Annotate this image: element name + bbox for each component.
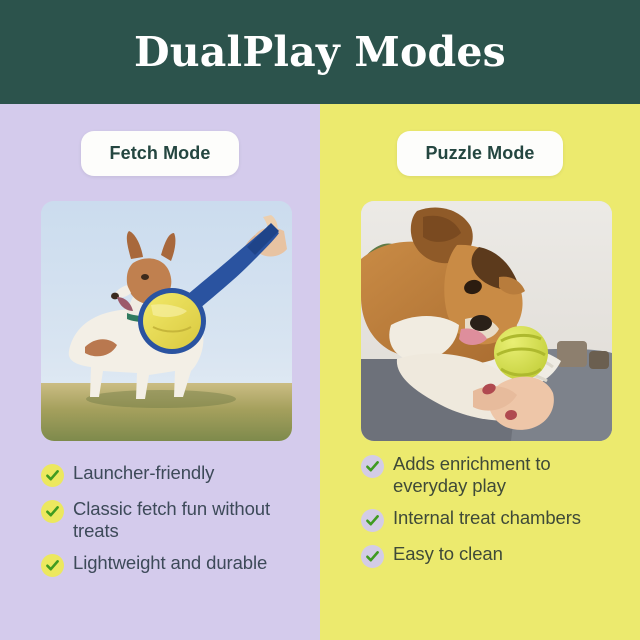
list-item-label: Launcher-friendly (73, 462, 214, 484)
fetch-mode-feature-list: Launcher-friendly Classic fetch fun with… (41, 462, 303, 577)
check-icon (361, 509, 384, 532)
mode-columns: Fetch Mode (0, 104, 640, 640)
check-icon (41, 464, 64, 487)
list-item-label: Easy to clean (393, 543, 503, 565)
check-icon (361, 455, 384, 478)
page-title: DualPlay Modes (124, 32, 516, 73)
check-icon (41, 554, 64, 577)
header-band: DualPlay Modes (0, 0, 640, 104)
fetch-mode-pill-wrap: Fetch Mode (0, 131, 320, 176)
puzzle-mode-photo (361, 201, 612, 441)
dualplay-modes-infographic: DualPlay Modes Fetch Mode (0, 0, 640, 640)
list-item-label: Internal treat chambers (393, 507, 581, 529)
fetch-mode-column: Fetch Mode (0, 104, 320, 640)
list-item: Internal treat chambers (361, 507, 623, 532)
puzzle-mode-feature-list: Adds enrichment to everyday play Interna… (361, 453, 623, 568)
list-item: Lightweight and durable (41, 552, 303, 577)
fetch-mode-pill[interactable]: Fetch Mode (81, 131, 238, 176)
check-icon (361, 545, 384, 568)
puzzle-mode-photo-illustration (361, 201, 612, 441)
puzzle-mode-pill-wrap: Puzzle Mode (320, 131, 640, 176)
list-item: Launcher-friendly (41, 462, 303, 487)
fetch-mode-photo-illustration (41, 201, 292, 441)
list-item-label: Classic fetch fun without treats (73, 498, 303, 541)
list-item: Classic fetch fun without treats (41, 498, 303, 541)
puzzle-mode-pill[interactable]: Puzzle Mode (397, 131, 562, 176)
list-item-label: Lightweight and durable (73, 552, 267, 574)
puzzle-mode-column: Puzzle Mode (320, 104, 640, 640)
fetch-mode-photo (41, 201, 292, 441)
list-item: Adds enrichment to everyday play (361, 453, 623, 496)
list-item: Easy to clean (361, 543, 623, 568)
list-item-label: Adds enrichment to everyday play (393, 453, 623, 496)
check-icon (41, 500, 64, 523)
